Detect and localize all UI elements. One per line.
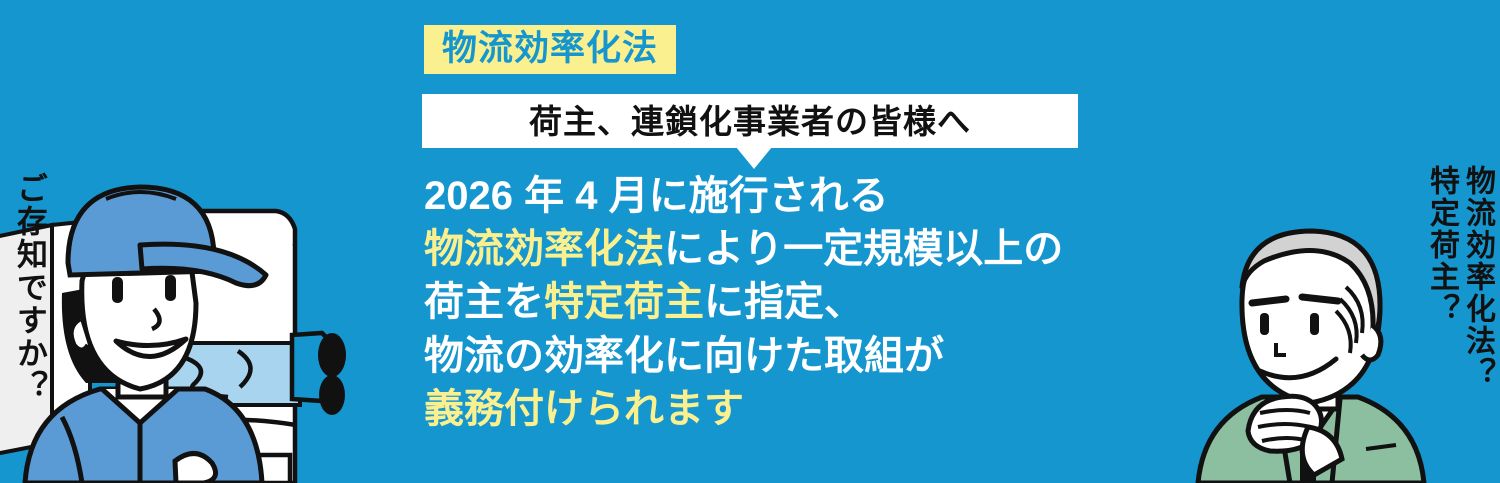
right-questions-group: 特定荷主？ 物流効率化法？ (1426, 165, 1492, 389)
man-eye-right (1310, 313, 1319, 335)
law-name-badge: 物流効率化法 (424, 25, 676, 74)
logistics-efficiency-law-banner: ご存知ですか？ 特定荷主？ 物流効率化法？ 物流効率化法 荷主、連鎖化事業者の皆… (0, 0, 1500, 483)
right-question-butsuryu-koritsuka-ho: 物流効率化法？ (1462, 165, 1492, 389)
main-copy-line-3: 荷主を特定荷主に指定、 (424, 276, 1114, 329)
main-copy-line-1-text: 2026 年 4 月に施行される (424, 174, 889, 218)
driver-eye-left (112, 277, 123, 303)
right-question-tokutei-ninushi: 特定荷主？ (1426, 165, 1456, 389)
main-copy-line-2-rest: により一定規模以上の (664, 227, 1063, 271)
driver-hand (175, 453, 216, 483)
main-copy-line-5-text: 義務付けられます (424, 387, 744, 431)
man-eyebrow-right (1302, 297, 1338, 301)
main-copy-line-5: 義務付けられます (424, 383, 1114, 436)
audience-banner-label: 荷主、連鎖化事業者の皆様へ (529, 105, 971, 138)
banner-tail-triangle (736, 147, 772, 169)
man-eyebrow-left (1252, 299, 1286, 303)
driver-eye-right (165, 275, 176, 301)
truck-driver-illustration (0, 183, 420, 483)
main-copy-line-3-highlight: 特定荷主 (544, 280, 704, 324)
main-copy-line-2: 物流効率化法により一定規模以上の (424, 223, 1114, 276)
main-copy-line-4: 物流の効率化に向けた取組が (424, 330, 1114, 383)
truck-mirror-upper (318, 333, 346, 377)
main-copy-line-1: 2026 年 4 月に施行される (424, 170, 1114, 223)
main-copy-line-3-post: に指定、 (704, 280, 864, 324)
man-eye-left (1260, 313, 1269, 335)
truck-mirror-lower (319, 375, 345, 415)
left-question-vertical-text: ご存知ですか？ (14, 172, 45, 403)
main-copy-block: 2026 年 4 月に施行される 物流効率化法により一定規模以上の 荷主を特定荷… (424, 170, 1114, 436)
thinking-elderly-man-illustration (1190, 213, 1430, 483)
audience-banner: 荷主、連鎖化事業者の皆様へ (422, 94, 1078, 148)
main-copy-line-4-text: 物流の効率化に向けた取組が (424, 334, 944, 378)
main-copy-line-2-highlight: 物流効率化法 (424, 227, 664, 271)
main-copy-line-3-pre: 荷主を (424, 280, 544, 324)
